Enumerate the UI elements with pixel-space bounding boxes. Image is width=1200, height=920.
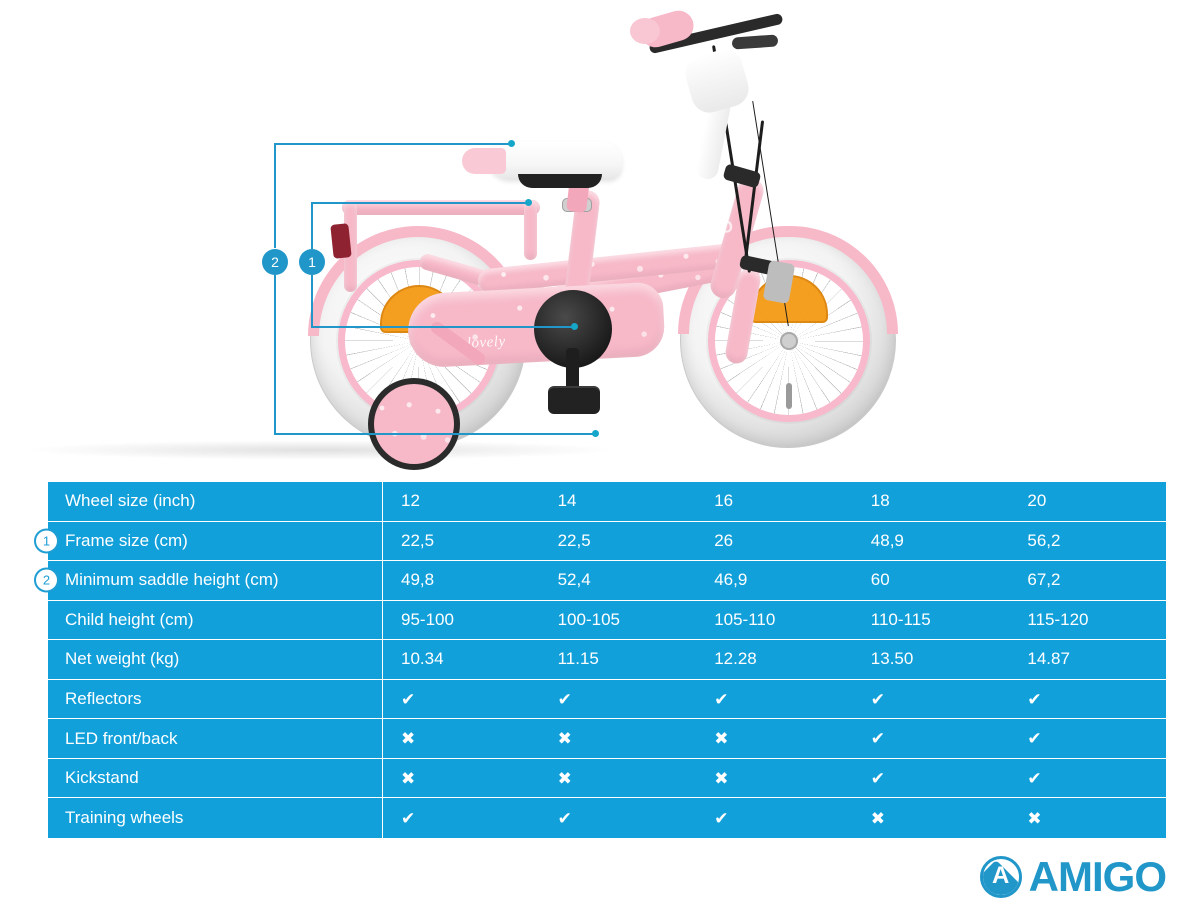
value-text: 14 [558,491,577,511]
check-icon: ✔ [714,691,728,708]
value-cell: 46,9 [696,561,853,600]
specification-table: Wheel size (inch) 12 14 16 18 20 1 Frame… [48,482,1166,838]
check-icon: ✔ [871,730,885,747]
row-label: LED front/back [65,729,177,749]
ground-shadow [20,440,620,460]
table-row: Net weight (kg) 10.34 11.15 12.28 13.50 … [48,640,1166,680]
value-text: 100-105 [558,610,620,630]
value-text: 110-115 [871,610,931,630]
cross-icon: ✖ [871,810,885,827]
value-cell: 67,2 [1009,561,1166,600]
rear-rack-strut-right [524,200,537,260]
value-cell: ✖ [1009,798,1166,838]
table-row: Kickstand ✖ ✖ ✖ ✔ ✔ [48,759,1166,799]
saddle-nose [462,148,506,174]
value-text: 10.34 [401,649,444,669]
value-cell: 12.28 [696,640,853,679]
row-badge-1: 1 [34,528,59,553]
check-icon: ✔ [1027,691,1041,708]
value-text: 46,9 [714,570,747,590]
table-row: Reflectors ✔ ✔ ✔ ✔ ✔ [48,680,1166,720]
table-row: Training wheels ✔ ✔ ✔ ✖ ✖ [48,798,1166,838]
value-cell: ✖ [383,759,540,798]
pedal [548,386,600,414]
value-cell: 52,4 [540,561,697,600]
value-cell: ✔ [1009,719,1166,758]
row-label: Net weight (kg) [65,649,179,669]
value-cell: 105-110 [696,601,853,640]
row-label-cell: Wheel size (inch) [48,482,383,521]
value-cell: ✖ [540,719,697,758]
value-text: 11.15 [558,649,599,669]
row-label-cell: Kickstand [48,759,383,798]
row-label-cell: Minimum saddle height (cm) [48,561,383,600]
value-text: 26 [714,531,733,551]
value-cell: 95-100 [383,601,540,640]
table-row: Wheel size (inch) 12 14 16 18 20 [48,482,1166,522]
row-label: Training wheels [65,808,183,828]
row-label-cell: Frame size (cm) [48,522,383,561]
amigo-logo-mark-icon: A [980,856,1022,898]
value-text: 52,4 [558,570,591,590]
check-icon: ✔ [1027,730,1041,747]
value-cell: ✖ [383,719,540,758]
row-label-cell: Child height (cm) [48,601,383,640]
value-cell: 12 [383,482,540,521]
value-cell: 10.34 [383,640,540,679]
row-badge-2: 2 [34,568,59,593]
value-text: 16 [714,491,733,511]
value-cell: ✔ [1009,680,1166,719]
value-cell: 110-115 [853,601,1010,640]
value-text: 105-110 [714,610,775,630]
value-text: 22,5 [558,531,591,551]
table-row: Child height (cm) 95-100 100-105 105-110… [48,601,1166,641]
value-cell: ✔ [696,798,853,838]
value-cell: 13.50 [853,640,1010,679]
value-cell: ✔ [696,680,853,719]
value-text: 18 [871,491,890,511]
value-cell: ✖ [540,759,697,798]
cross-icon: ✖ [401,770,415,787]
bicycle-illustration: AMIGO lovely [300,0,940,460]
training-wheel [368,378,460,470]
row-badge-label: 2 [43,573,50,588]
table-row: 2 Minimum saddle height (cm) 49,8 52,4 4… [48,561,1166,601]
saddle [488,142,622,180]
check-icon: ✔ [401,810,415,827]
value-cell: ✖ [853,798,1010,838]
front-valve [786,383,792,409]
rear-reflector-light [330,223,351,259]
cross-icon: ✖ [558,770,572,787]
value-cell: ✔ [853,719,1010,758]
check-icon: ✔ [1027,770,1041,787]
check-icon: ✔ [558,810,572,827]
value-cell: 20 [1009,482,1166,521]
row-label-cell: LED front/back [48,719,383,758]
rear-rack [342,200,540,215]
value-cell: ✔ [383,680,540,719]
callout-2-vertical-line-lower [274,275,276,434]
handlebar-grip-end [630,18,660,44]
value-text: 13.50 [871,649,914,669]
saddle-base [518,174,602,188]
value-text: 20 [1027,491,1046,511]
check-icon: ✔ [871,770,885,787]
cross-icon: ✖ [401,730,415,747]
value-cell: 14 [540,482,697,521]
row-label: Frame size (cm) [65,531,188,551]
row-label: Reflectors [65,689,142,709]
cross-icon: ✖ [714,770,728,787]
value-cell: 22,5 [540,522,697,561]
value-text: 56,2 [1027,531,1060,551]
value-cell: ✔ [540,798,697,838]
value-cell: ✖ [696,719,853,758]
value-cell: 11.15 [540,640,697,679]
value-cell: 18 [853,482,1010,521]
callout-2-vertical-line [274,143,276,248]
value-text: 12.28 [714,649,757,669]
diagram-badge-2: 2 [262,249,288,275]
amigo-logo: A AMIGO [980,856,1166,898]
front-hub [780,332,798,350]
cross-icon: ✖ [558,730,572,747]
value-cell: 22,5 [383,522,540,561]
cross-icon: ✖ [1027,810,1041,827]
value-text: 12 [401,491,420,511]
row-badge-label: 1 [43,533,50,548]
diagram-badge-2-label: 2 [271,254,279,270]
amigo-logo-text: AMIGO [1029,856,1166,898]
value-text: 14.87 [1027,649,1070,669]
row-label-cell: Training wheels [48,798,383,838]
value-cell: 26 [696,522,853,561]
value-text: 60 [871,570,890,590]
value-cell: 14.87 [1009,640,1166,679]
row-label-cell: Net weight (kg) [48,640,383,679]
row-label: Minimum saddle height (cm) [65,570,279,590]
check-icon: ✔ [558,691,572,708]
check-icon: ✔ [871,691,885,708]
value-text: 115-120 [1027,610,1088,630]
value-cell: 49,8 [383,561,540,600]
check-icon: ✔ [714,810,728,827]
value-cell: 115-120 [1009,601,1166,640]
row-label-cell: Reflectors [48,680,383,719]
training-wheel-rim [374,384,454,464]
value-cell: 16 [696,482,853,521]
table-row: LED front/back ✖ ✖ ✖ ✔ ✔ [48,719,1166,759]
stem-clamp [681,45,753,117]
hearts-pattern [374,384,454,464]
value-text: 67,2 [1027,570,1060,590]
product-spec-page: AMIGO lovely [0,0,1200,920]
amigo-logo-letter: A [992,864,1009,888]
value-cell: 48,9 [853,522,1010,561]
value-text: 49,8 [401,570,434,590]
table-row: 1 Frame size (cm) 22,5 22,5 26 48,9 56,2 [48,522,1166,562]
value-cell: 60 [853,561,1010,600]
value-text: 95-100 [401,610,454,630]
value-cell: ✔ [1009,759,1166,798]
row-label: Wheel size (inch) [65,491,195,511]
value-cell: 56,2 [1009,522,1166,561]
check-icon: ✔ [401,691,415,708]
row-label: Kickstand [65,768,139,788]
row-label: Child height (cm) [65,610,194,630]
product-image-area: AMIGO lovely [0,0,1200,470]
value-cell: ✖ [696,759,853,798]
value-cell: ✔ [853,759,1010,798]
cross-icon: ✖ [714,730,728,747]
value-text: 22,5 [401,531,434,551]
brake-lever [732,34,779,49]
value-cell: ✔ [383,798,540,838]
value-cell: 100-105 [540,601,697,640]
value-text: 48,9 [871,531,904,551]
value-cell: ✔ [853,680,1010,719]
value-cell: ✔ [540,680,697,719]
